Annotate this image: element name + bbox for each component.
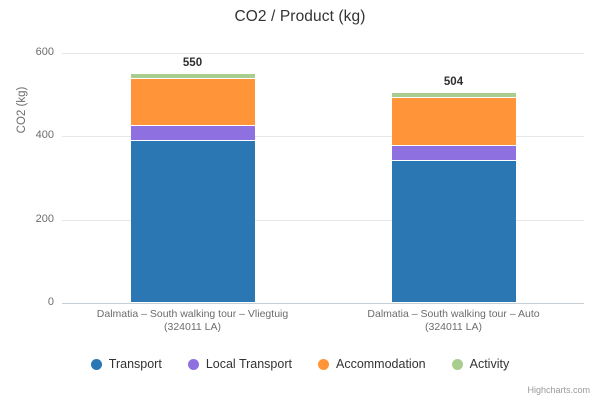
y-axis-tick-label: 400 xyxy=(8,129,54,141)
bar-total-label: 550 xyxy=(131,57,255,69)
legend-marker-icon xyxy=(318,359,329,370)
stacked-bar[interactable] xyxy=(131,74,255,303)
legend-item-local-transport[interactable]: Local Transport xyxy=(188,357,292,371)
x-axis-category-line: (324011 LA) xyxy=(323,321,584,334)
bar-segment-local-transport[interactable] xyxy=(392,146,516,161)
bar-segment-activity[interactable] xyxy=(131,74,255,79)
bar-segment-transport[interactable] xyxy=(392,161,516,304)
y-axis-tick-label: 600 xyxy=(8,46,54,58)
bar-total-label: 504 xyxy=(392,76,516,88)
x-axis-category-line: Dalmatia – South walking tour – Vliegtui… xyxy=(62,308,323,321)
y-axis-title: CO2 (kg) xyxy=(16,50,28,170)
chart-title: CO2 / Product (kg) xyxy=(0,8,600,26)
bar-group: 504 xyxy=(392,53,516,303)
x-axis-category-line: (324011 LA) xyxy=(62,321,323,334)
bar-segment-accommodation[interactable] xyxy=(131,79,255,126)
legend-label: Local Transport xyxy=(206,357,292,371)
legend-label: Activity xyxy=(470,357,510,371)
legend-item-activity[interactable]: Activity xyxy=(452,357,510,371)
stacked-bar[interactable] xyxy=(392,93,516,303)
plot-area: 550504 xyxy=(62,53,584,303)
y-axis-tick-label: 0 xyxy=(8,296,54,308)
x-axis-category-label: Dalmatia – South walking tour – Auto(324… xyxy=(323,308,584,334)
legend-item-accommodation[interactable]: Accommodation xyxy=(318,357,426,371)
legend-item-transport[interactable]: Transport xyxy=(91,357,162,371)
legend-marker-icon xyxy=(91,359,102,370)
y-axis-tick-label: 200 xyxy=(8,213,54,225)
x-axis-line xyxy=(62,303,584,304)
x-axis-category-line: Dalmatia – South walking tour – Auto xyxy=(323,308,584,321)
legend-label: Transport xyxy=(109,357,162,371)
chart-legend: TransportLocal TransportAccommodationAct… xyxy=(0,357,600,371)
chart-container: CO2 / Product (kg) 0200400600 CO2 (kg) 5… xyxy=(0,0,600,400)
legend-marker-icon xyxy=(452,359,463,370)
x-axis-category-label: Dalmatia – South walking tour – Vliegtui… xyxy=(62,308,323,334)
legend-label: Accommodation xyxy=(336,357,426,371)
credits-label: Highcharts.com xyxy=(527,385,590,395)
bar-segment-activity[interactable] xyxy=(392,93,516,98)
bar-segment-transport[interactable] xyxy=(131,141,255,303)
bar-segment-local-transport[interactable] xyxy=(131,126,255,141)
legend-marker-icon xyxy=(188,359,199,370)
bar-group: 550 xyxy=(131,53,255,303)
bar-segment-accommodation[interactable] xyxy=(392,98,516,145)
